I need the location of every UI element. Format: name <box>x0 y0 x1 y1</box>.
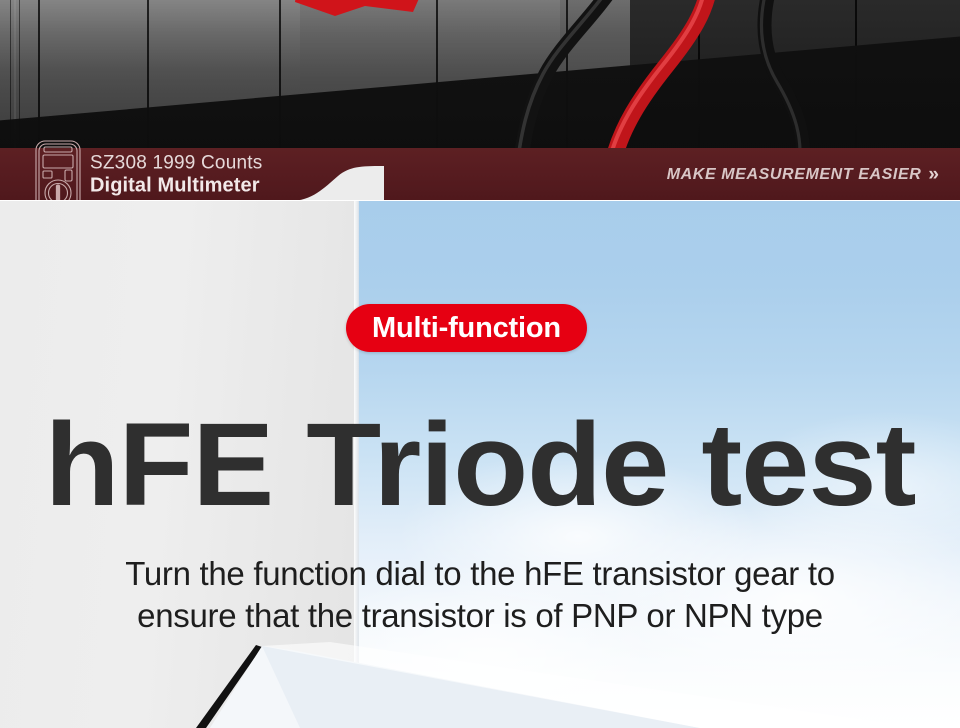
banner-tagline: MAKE MEASUREMENT EASIER » <box>667 164 936 186</box>
product-banner: SZ308 1999 Counts Digital Multimeter MAK… <box>0 148 960 201</box>
banner-curve-notch <box>254 148 384 201</box>
badge-label: Multi-function <box>372 312 561 345</box>
red-test-lead-cable <box>580 0 760 150</box>
product-marketing-page: SZ308 1999 Counts Digital Multimeter MAK… <box>0 0 960 728</box>
page-subtitle: Turn the function dial to the hFE transi… <box>0 553 960 637</box>
red-probe-clip <box>295 0 425 25</box>
brand-text-block: SZ308 1999 Counts Digital Multimeter <box>90 152 262 197</box>
page-headline: hFE Triode test <box>0 406 960 524</box>
black-test-lead-cable <box>740 0 880 150</box>
subtitle-line-2: ensure that the transistor is of PNP or … <box>0 595 960 637</box>
hero-stage: Multi-function hFE Triode test Turn the … <box>0 201 960 728</box>
tagline-text: MAKE MEASUREMENT EASIER <box>667 166 922 184</box>
product-line: Digital Multimeter <box>90 174 262 197</box>
double-chevron-right-icon: » <box>928 164 936 186</box>
multimeter-test-leads-photo <box>0 0 960 150</box>
subtitle-line-1: Turn the function dial to the hFE transi… <box>0 553 960 595</box>
multi-function-badge: Multi-function <box>346 304 587 352</box>
model-line: SZ308 1999 Counts <box>90 152 262 174</box>
